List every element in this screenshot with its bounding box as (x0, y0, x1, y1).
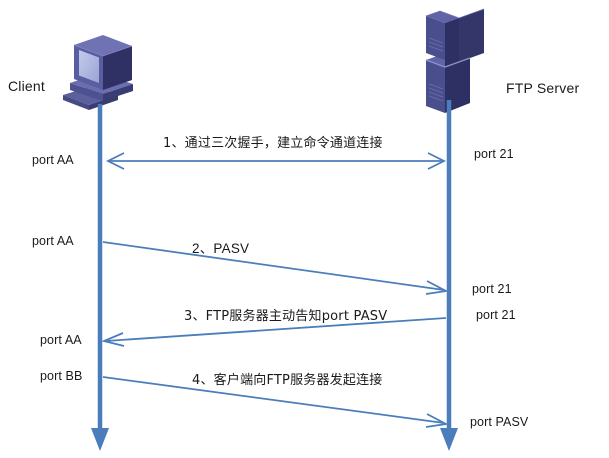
server-rack-icon (426, 9, 484, 113)
message-label-3: 3、FTP服务器主动告知port PASV (184, 305, 387, 324)
port-label-right-2: port 21 (472, 282, 512, 296)
client-lifeline (91, 104, 109, 451)
message-label-1: 1、通过三次握手，建立命令通道连接 (163, 132, 383, 151)
message-arrow-1 (108, 153, 444, 169)
server-lifeline (440, 100, 458, 451)
port-label-left-4: port BB (40, 369, 82, 383)
message-label-4: 4、客户端向FTP服务器发起连接 (192, 369, 383, 388)
diagram-canvas: Client FTP Server port AA port AA port A… (0, 0, 609, 458)
message-label-2: 2、PASV (192, 237, 249, 257)
sequence-diagram-svg (0, 0, 609, 458)
port-label-right-1: port 21 (474, 147, 514, 161)
desktop-computer-icon (63, 35, 133, 110)
port-label-right-3: port 21 (476, 308, 516, 322)
port-label-left-2: port AA (32, 234, 74, 248)
port-label-left-3: port AA (40, 333, 82, 347)
message-arrow-2 (103, 242, 446, 294)
port-label-right-4: port PASV (470, 415, 528, 429)
actor-label-ftp-server: FTP Server (506, 80, 579, 96)
port-label-left-1: port AA (32, 153, 74, 167)
actor-label-client: Client (8, 78, 45, 94)
